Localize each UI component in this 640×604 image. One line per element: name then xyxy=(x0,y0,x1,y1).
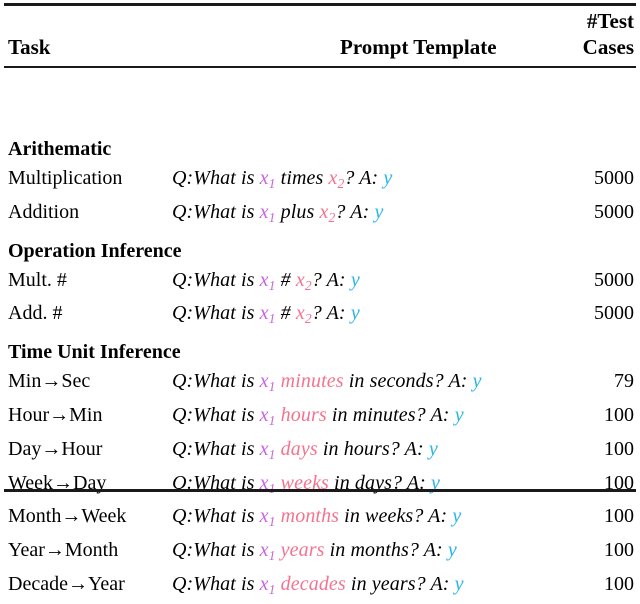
variable-x1: x1 xyxy=(260,404,276,426)
variable-x1-subscript: 1 xyxy=(269,379,276,394)
variable-x1-base: x xyxy=(260,302,269,324)
task-name: Day→Hour xyxy=(4,435,172,469)
q-prefix: Q:What is xyxy=(172,269,255,291)
operator-word: plus xyxy=(281,201,315,223)
test-case-count: 79 xyxy=(556,367,636,401)
variable-x1-base: x xyxy=(260,539,269,561)
q-prefix: Q:What is xyxy=(172,438,255,460)
task-name: Week→Day xyxy=(4,469,172,503)
prompt-text: Q:What is x1 days in hours? A: y xyxy=(172,438,438,460)
to-unit: months xyxy=(350,539,408,561)
test-case-count: 5000 xyxy=(556,164,636,198)
prompt-template: Q:What is x1 months in weeks? A: y xyxy=(172,502,556,536)
table-row: Min→Sec Q:What is x1 minutes in seconds?… xyxy=(4,367,636,401)
prompt-template: Q:What is x1 # x2? A: y xyxy=(172,299,556,333)
variable-x2-subscript: 2 xyxy=(305,311,312,326)
answer-prefix: ? A: xyxy=(416,573,450,595)
variable-y: y xyxy=(448,539,457,561)
variable-x1-subscript: 1 xyxy=(269,548,276,563)
test-case-count: 5000 xyxy=(556,299,636,333)
in-word: in xyxy=(332,404,348,426)
variable-x1-subscript: 1 xyxy=(269,480,276,495)
test-case-count: 100 xyxy=(556,536,636,570)
prompt-text: Q:What is x1 decades in years? A: y xyxy=(172,573,464,595)
answer-prefix: ? A: xyxy=(312,269,346,291)
variable-x1-subscript: 1 xyxy=(269,413,276,428)
q-prefix: Q:What is xyxy=(172,404,255,426)
prompt-template: Q:What is x1 years in months? A: y xyxy=(172,536,556,570)
operator-word: # xyxy=(281,269,291,291)
in-word: in xyxy=(344,505,360,527)
variable-y: y xyxy=(473,370,482,392)
q-prefix: Q:What is xyxy=(172,167,255,189)
header-spacer-row xyxy=(4,60,636,130)
operator-word: # xyxy=(281,302,291,324)
in-word: in xyxy=(323,438,339,460)
to-unit: years xyxy=(372,573,416,595)
table-row: Addition Q:What is x1 plus x2? A: y 5000 xyxy=(4,198,636,232)
variable-y: y xyxy=(452,505,461,527)
variable-x1-base: x xyxy=(260,201,269,223)
variable-x2-base: x xyxy=(296,269,305,291)
test-case-count: 5000 xyxy=(556,198,636,232)
to-unit: seconds xyxy=(370,370,434,392)
variable-y: y xyxy=(455,573,464,595)
answer-prefix: ? A: xyxy=(409,539,443,561)
variable-x1-base: x xyxy=(260,573,269,595)
spacer-cell xyxy=(4,60,172,130)
prompt-text: Q:What is x1 minutes in seconds? A: y xyxy=(172,370,482,392)
table-row: Mult. # Q:What is x1 # x2? A: y 5000 xyxy=(4,266,636,300)
prompt-template: Q:What is x1 plus x2? A: y xyxy=(172,198,556,232)
task-name: Multiplication xyxy=(4,164,172,198)
variable-x1-subscript: 1 xyxy=(269,210,276,225)
variable-x1-base: x xyxy=(260,269,269,291)
in-word: in xyxy=(351,573,367,595)
q-prefix: Q:What is xyxy=(172,370,255,392)
task-name: Min→Sec xyxy=(4,367,172,401)
q-prefix: Q:What is xyxy=(172,539,255,561)
from-unit: minutes xyxy=(281,370,344,392)
column-header-test-cases-line1: #Test xyxy=(587,9,634,33)
table-top-rule xyxy=(4,3,636,6)
prompt-text: Q:What is x1 years in months? A: y xyxy=(172,539,457,561)
from-unit: years xyxy=(281,539,325,561)
variable-x1: x1 xyxy=(260,370,276,392)
table-row: Multiplication Q:What is x1 times x2? A:… xyxy=(4,164,636,198)
section-title-operation-inference: Operation Inference xyxy=(4,232,636,266)
task-name: Mult. # xyxy=(4,266,172,300)
variable-x1-base: x xyxy=(260,370,269,392)
variable-x1-subscript: 1 xyxy=(269,582,276,597)
variable-x1-subscript: 1 xyxy=(269,311,276,326)
variable-x1-base: x xyxy=(260,167,269,189)
prompt-template: Q:What is x1 # x2? A: y xyxy=(172,266,556,300)
variable-x1: x1 xyxy=(260,269,276,291)
variable-y: y xyxy=(351,269,360,291)
variable-x1-subscript: 1 xyxy=(269,176,276,191)
prompt-template: Q:What is x1 days in hours? A: y xyxy=(172,435,556,469)
from-unit: months xyxy=(281,505,339,527)
test-case-count: 100 xyxy=(556,502,636,536)
variable-y: y xyxy=(429,438,438,460)
q-prefix: Q:What is xyxy=(172,302,255,324)
spacer-cell xyxy=(556,60,636,130)
answer-prefix: ? A: xyxy=(312,302,346,324)
prompt-text: Q:What is x1 times x2? A: y xyxy=(172,167,392,189)
prompt-template: Q:What is x1 hours in minutes? A: y xyxy=(172,401,556,435)
table-row: Add. # Q:What is x1 # x2? A: y 5000 xyxy=(4,299,636,333)
task-name: Month→Week xyxy=(4,502,172,536)
variable-y: y xyxy=(383,167,392,189)
prompt-template: Q:What is x1 decades in years? A: y xyxy=(172,570,556,604)
task-name: Addition xyxy=(4,198,172,232)
variable-y: y xyxy=(351,302,360,324)
variable-x2-base: x xyxy=(296,302,305,324)
prompt-text: Q:What is x1 # x2? A: y xyxy=(172,302,360,324)
variable-x2: x2 xyxy=(296,269,312,291)
table-row: Month→Week Q:What is x1 months in weeks?… xyxy=(4,502,636,536)
task-prompt-table: Task Prompt Template #Test Cases Arithem… xyxy=(4,0,636,604)
prompt-text: Q:What is x1 plus x2? A: y xyxy=(172,201,383,223)
variable-y: y xyxy=(455,404,464,426)
q-prefix: Q:What is xyxy=(172,573,255,595)
from-unit: decades xyxy=(281,573,346,595)
column-header-test-cases: #Test Cases xyxy=(556,0,636,60)
variable-x2-subscript: 2 xyxy=(305,277,312,292)
table-container: Task Prompt Template #Test Cases Arithem… xyxy=(0,0,640,496)
variable-x1: x1 xyxy=(260,302,276,324)
answer-prefix: ? A: xyxy=(390,438,424,460)
header-row: Task Prompt Template #Test Cases xyxy=(4,0,636,60)
to-unit: minutes xyxy=(353,404,416,426)
task-name: Decade→Year xyxy=(4,570,172,604)
column-header-task: Task xyxy=(4,0,172,60)
prompt-text: Q:What is x1 months in weeks? A: y xyxy=(172,505,461,527)
from-unit: days xyxy=(281,438,318,460)
variable-x2: x2 xyxy=(320,201,336,223)
answer-prefix: ? A: xyxy=(413,505,447,527)
section-heading-row: Arithematic xyxy=(4,130,636,164)
table-body: Arithematic Multiplication Q:What is x1 … xyxy=(4,60,636,604)
variable-x1-base: x xyxy=(260,505,269,527)
task-name: Add. # xyxy=(4,299,172,333)
variable-x1: x1 xyxy=(260,573,276,595)
operator-word: times xyxy=(281,167,324,189)
table-header: Task Prompt Template #Test Cases xyxy=(4,0,636,60)
spacer-cell xyxy=(172,60,556,130)
variable-x1: x1 xyxy=(260,438,276,460)
table-header-rule xyxy=(4,66,636,68)
test-case-count: 5000 xyxy=(556,266,636,300)
section-heading-row: Time Unit Inference xyxy=(4,333,636,367)
q-prefix: Q:What is xyxy=(172,201,255,223)
table-row: Week→Day Q:What is x1 weeks in days? A: … xyxy=(4,469,636,503)
column-header-test-cases-line2: Cases xyxy=(556,34,634,60)
prompt-template: Q:What is x1 weeks in days? A: y xyxy=(172,469,556,503)
variable-x1-subscript: 1 xyxy=(269,277,276,292)
section-heading-row: Operation Inference xyxy=(4,232,636,266)
variable-x2: x2 xyxy=(329,167,345,189)
in-word: in xyxy=(330,539,346,561)
variable-x1-base: x xyxy=(260,404,269,426)
section-title-arithematic: Arithematic xyxy=(4,130,636,164)
prompt-template: Q:What is x1 minutes in seconds? A: y xyxy=(172,367,556,401)
variable-x1: x1 xyxy=(260,201,276,223)
variable-x1-subscript: 1 xyxy=(269,447,276,462)
task-name: Hour→Min xyxy=(4,401,172,435)
table-row: Decade→Year Q:What is x1 decades in year… xyxy=(4,570,636,604)
prompt-template: Q:What is x1 times x2? A: y xyxy=(172,164,556,198)
table-row: Hour→Min Q:What is x1 hours in minutes? … xyxy=(4,401,636,435)
answer-prefix: ? A: xyxy=(416,404,450,426)
variable-x2-base: x xyxy=(320,201,329,223)
column-header-prompt-template: Prompt Template xyxy=(172,0,556,60)
in-word: in xyxy=(349,370,365,392)
table-row: Day→Hour Q:What is x1 days in hours? A: … xyxy=(4,435,636,469)
answer-prefix: ? A: xyxy=(434,370,468,392)
variable-y: y xyxy=(374,201,383,223)
variable-x1: x1 xyxy=(260,167,276,189)
variable-x2: x2 xyxy=(296,302,312,324)
variable-x1: x1 xyxy=(260,539,276,561)
test-case-count: 100 xyxy=(556,401,636,435)
prompt-text: Q:What is x1 hours in minutes? A: y xyxy=(172,404,464,426)
prompt-text: Q:What is x1 # x2? A: y xyxy=(172,269,360,291)
table-row: Year→Month Q:What is x1 years in months?… xyxy=(4,536,636,570)
q-prefix: Q:What is xyxy=(172,505,255,527)
variable-x1: x1 xyxy=(260,505,276,527)
table-bottom-rule xyxy=(4,489,636,492)
from-unit: hours xyxy=(281,404,327,426)
test-case-count: 100 xyxy=(556,435,636,469)
variable-x1-base: x xyxy=(260,438,269,460)
task-name: Year→Month xyxy=(4,536,172,570)
to-unit: weeks xyxy=(365,505,413,527)
test-case-count: 100 xyxy=(556,570,636,604)
section-title-time-unit-inference: Time Unit Inference xyxy=(4,333,636,367)
variable-x1-subscript: 1 xyxy=(269,514,276,529)
answer-prefix: ? A: xyxy=(344,167,378,189)
to-unit: hours xyxy=(344,438,390,460)
answer-prefix: ? A: xyxy=(335,201,369,223)
test-case-count: 100 xyxy=(556,469,636,503)
